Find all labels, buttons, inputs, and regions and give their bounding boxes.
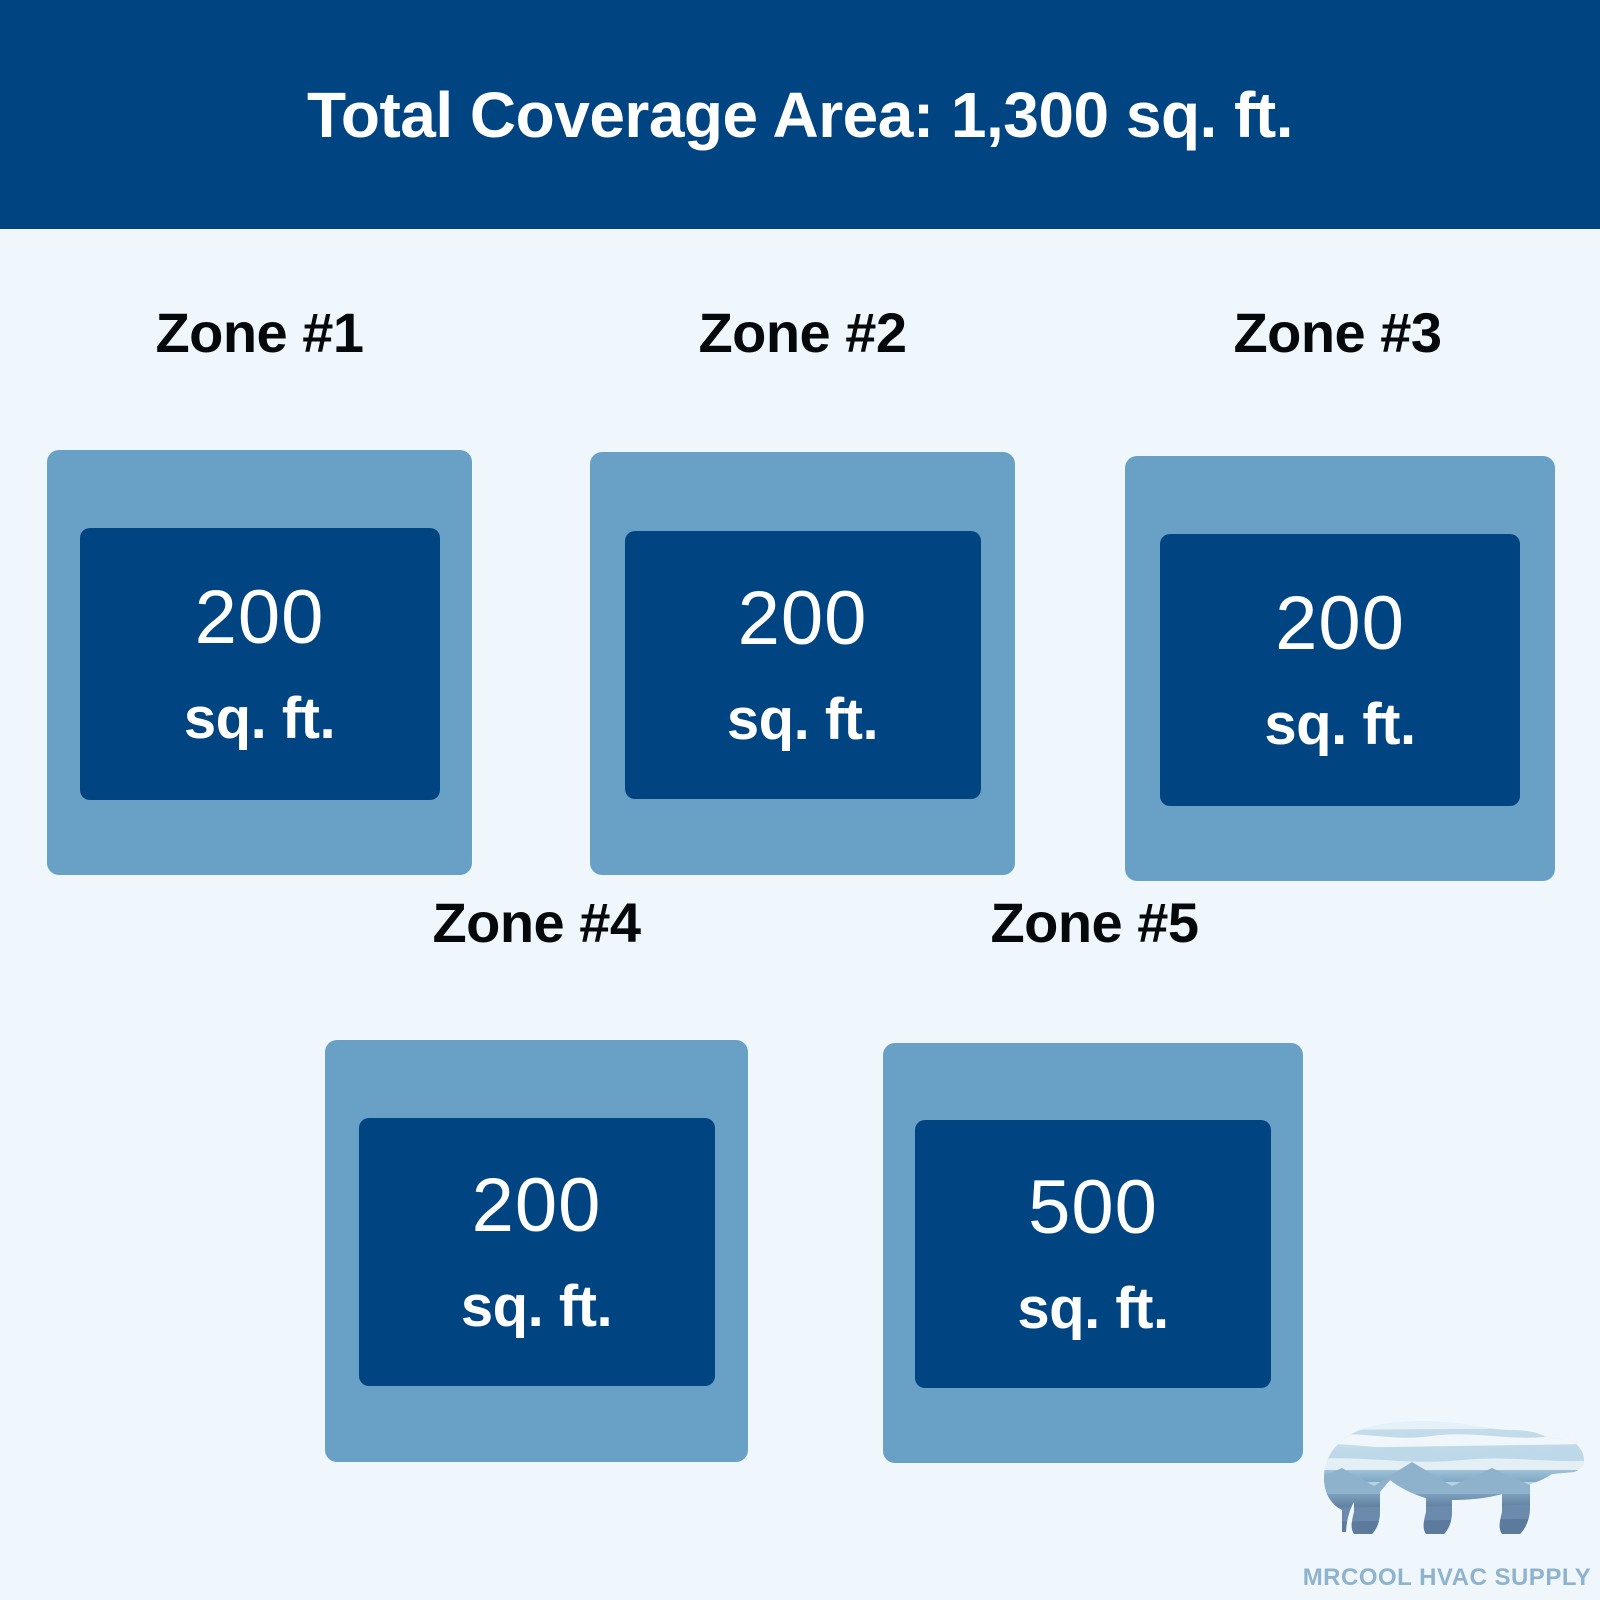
zone-value-5: 500 xyxy=(1028,1170,1158,1246)
zone-card-1[interactable]: Zone #1 200 sq. ft. xyxy=(47,450,472,875)
zone-inner-panel-5: 500 sq. ft. xyxy=(915,1120,1271,1388)
zone-inner-panel-3: 200 sq. ft. xyxy=(1160,534,1520,806)
zone-inner-panel-4: 200 sq. ft. xyxy=(359,1118,715,1386)
zone-label-4: Zone #4 xyxy=(325,895,748,951)
zone-unit-2: sq. ft. xyxy=(727,691,878,749)
zone-value-4: 200 xyxy=(472,1168,602,1244)
zone-label-1: Zone #1 xyxy=(47,305,472,361)
zone-label-2: Zone #2 xyxy=(590,305,1015,361)
zone-value-3: 200 xyxy=(1275,586,1405,662)
zone-card-2[interactable]: Zone #2 200 sq. ft. xyxy=(590,452,1015,875)
header-band: Total Coverage Area: 1,300 sq. ft. xyxy=(0,0,1600,229)
zone-unit-5: sq. ft. xyxy=(1017,1280,1168,1338)
zone-unit-4: sq. ft. xyxy=(461,1278,612,1336)
zone-outer-square-3: 200 sq. ft. xyxy=(1125,456,1555,881)
zone-label-3: Zone #3 xyxy=(1125,305,1550,361)
logo-text: MRCOOL HVAC SUPPLY xyxy=(1302,1566,1592,1590)
zone-value-2: 200 xyxy=(738,581,868,657)
zone-unit-1: sq. ft. xyxy=(184,690,335,748)
page-title: Total Coverage Area: 1,300 sq. ft. xyxy=(307,83,1293,147)
brand-logo: MRCOOL HVAC SUPPLY xyxy=(1302,1382,1592,1594)
zone-value-1: 200 xyxy=(195,580,325,656)
zone-outer-square-4: 200 sq. ft. xyxy=(325,1040,748,1462)
zone-outer-square-5: 500 sq. ft. xyxy=(883,1043,1303,1463)
zone-card-3[interactable]: Zone #3 200 sq. ft. xyxy=(1125,456,1555,881)
polar-bear-icon xyxy=(1302,1382,1592,1547)
zone-label-5: Zone #5 xyxy=(883,895,1306,951)
zone-card-4[interactable]: Zone #4 200 sq. ft. xyxy=(325,1040,748,1462)
zone-unit-3: sq. ft. xyxy=(1264,696,1415,754)
zone-card-5[interactable]: Zone #5 500 sq. ft. xyxy=(883,1043,1303,1463)
zone-outer-square-2: 200 sq. ft. xyxy=(590,452,1015,875)
zone-inner-panel-1: 200 sq. ft. xyxy=(80,528,440,800)
zone-outer-square-1: 200 sq. ft. xyxy=(47,450,472,875)
zone-inner-panel-2: 200 sq. ft. xyxy=(625,531,981,799)
